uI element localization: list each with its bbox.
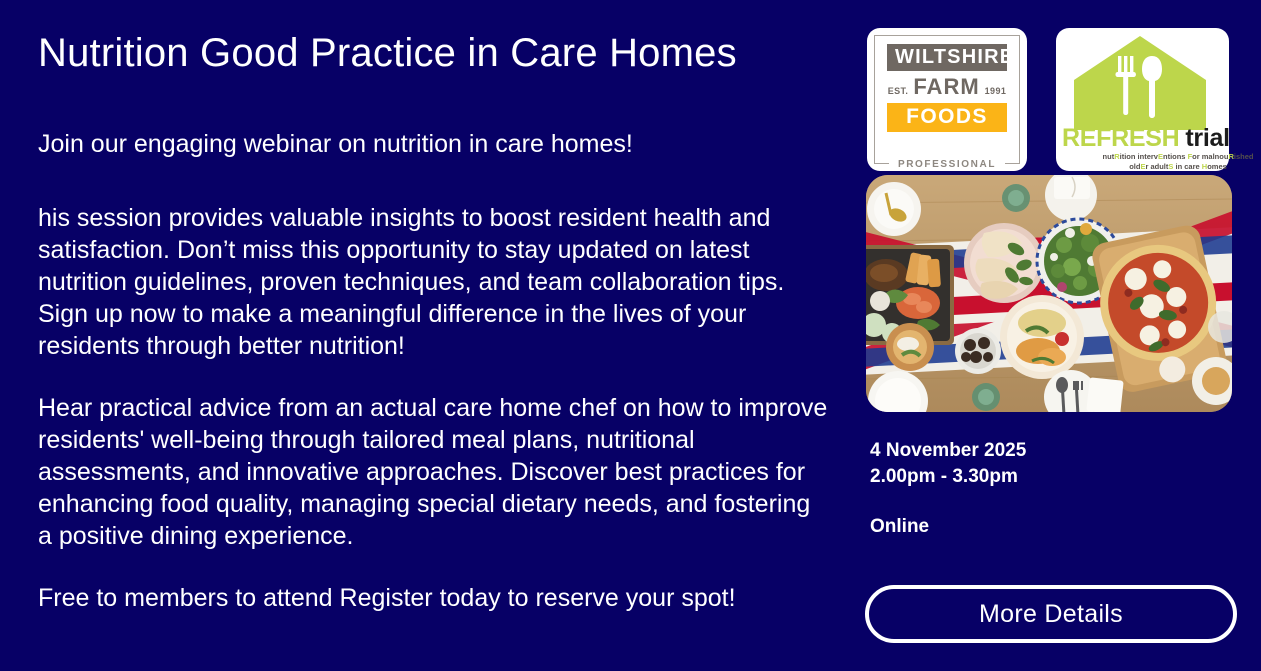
chef-advice-paragraph: Hear practical advice from an actual car… bbox=[38, 392, 828, 552]
description-paragraph: his session provides valuable insights t… bbox=[38, 202, 828, 362]
refresh-trial-word: trial bbox=[1185, 124, 1229, 152]
wff-farm-row: EST. FARM 1991 bbox=[888, 76, 1007, 98]
wff-professional-label: PROFESSIONAL bbox=[889, 159, 1005, 171]
refresh-wordmark: REFRESHtrial bbox=[1062, 126, 1261, 151]
wff-frame: WILTSHIRE EST. FARM 1991 FOODS PROFESSIO… bbox=[874, 35, 1020, 164]
wff-year-label: 1991 bbox=[985, 86, 1007, 96]
closing-paragraph: Free to members to attend Register today… bbox=[38, 582, 828, 614]
event-time: 2.00pm - 3.30pm bbox=[870, 464, 1200, 490]
left-content-column: Nutrition Good Practice in Care Homes Jo… bbox=[38, 30, 828, 614]
food-table-photo bbox=[866, 175, 1232, 412]
refresh-trial-logo: REFRESHtrial nutRition intervEntions For… bbox=[1056, 28, 1229, 171]
wff-est-label: EST. bbox=[888, 86, 909, 96]
event-details: 4 November 2025 2.00pm - 3.30pm Online bbox=[870, 438, 1200, 538]
house-with-cutlery-icon bbox=[1070, 34, 1210, 132]
event-date: 4 November 2025 bbox=[870, 438, 1200, 464]
event-location: Online bbox=[870, 516, 1200, 538]
refresh-tagline: nutRition intervEntions For malnouRished… bbox=[1060, 152, 1261, 172]
more-details-button[interactable]: More Details bbox=[865, 585, 1237, 643]
wff-professional-wrap: PROFESSIONAL bbox=[875, 159, 1019, 171]
webinar-promo-poster: Nutrition Good Practice in Care Homes Jo… bbox=[0, 0, 1261, 671]
refresh-tagline-line-2: oldEr adultS in care Homes bbox=[1060, 162, 1261, 172]
logo-row: WILTSHIRE EST. FARM 1991 FOODS PROFESSIO… bbox=[862, 28, 1261, 173]
wff-farm-label: FARM bbox=[913, 76, 979, 98]
wff-foods-label: FOODS bbox=[887, 103, 1007, 132]
wiltshire-farm-foods-logo: WILTSHIRE EST. FARM 1991 FOODS PROFESSIO… bbox=[867, 28, 1027, 171]
right-sidebar-column: WILTSHIRE EST. FARM 1991 FOODS PROFESSIO… bbox=[862, 28, 1261, 671]
refresh-word: REFRESH bbox=[1062, 124, 1179, 152]
body-copy: Join our engaging webinar on nutrition i… bbox=[38, 128, 828, 614]
refresh-tagline-line-1: nutRition intervEntions For malnouRished bbox=[1060, 152, 1261, 162]
lead-paragraph: Join our engaging webinar on nutrition i… bbox=[38, 128, 828, 160]
wff-brand-label: WILTSHIRE bbox=[887, 44, 1007, 71]
page-title: Nutrition Good Practice in Care Homes bbox=[38, 30, 828, 76]
food-photo-illustration bbox=[866, 175, 1232, 412]
